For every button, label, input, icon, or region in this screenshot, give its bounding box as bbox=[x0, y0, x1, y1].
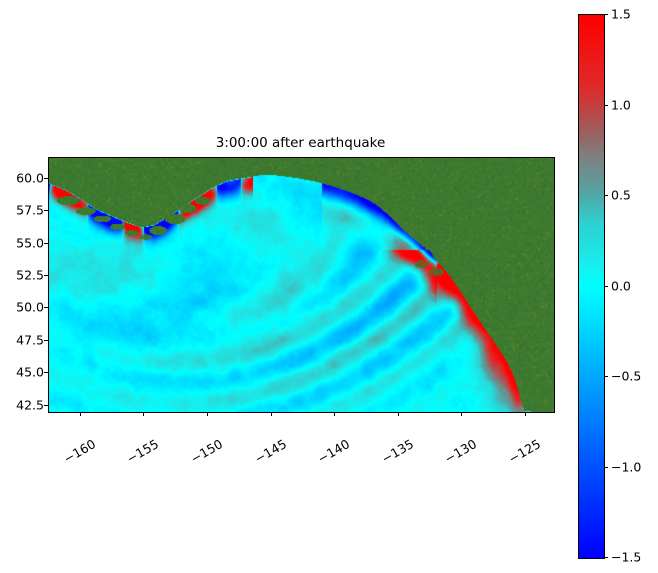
colorbar-tick-mark bbox=[604, 467, 608, 468]
y-tick-label: 60.0 bbox=[16, 170, 44, 185]
y-tick-mark bbox=[44, 405, 48, 406]
page-title: 3:00:00 after earthquake bbox=[48, 135, 553, 151]
y-tick-label: 52.5 bbox=[16, 267, 44, 282]
x-tick-label-text: −130 bbox=[442, 436, 479, 466]
x-tick-label: −130 bbox=[472, 419, 509, 449]
y-tick-label: 47.5 bbox=[16, 332, 44, 347]
x-tick-label: −150 bbox=[218, 419, 255, 449]
x-tick-label: −135 bbox=[408, 419, 445, 449]
x-tick-label-text: −150 bbox=[188, 436, 225, 466]
x-tick-label: −145 bbox=[281, 419, 318, 449]
x-tick-label: −125 bbox=[536, 419, 573, 449]
y-tick-mark bbox=[44, 372, 48, 373]
colorbar-tick-mark bbox=[604, 557, 608, 558]
y-tick-label: 42.5 bbox=[16, 397, 44, 412]
y-tick-label: 50.0 bbox=[16, 300, 44, 315]
x-tick-label-text: −140 bbox=[315, 436, 352, 466]
matplotlib-figure: 3:00:00 after earthquake 60.057.555.052.… bbox=[0, 0, 658, 573]
colorbar-tick-mark bbox=[604, 376, 608, 377]
x-tick-label-text: −125 bbox=[506, 436, 543, 466]
x-tick-label-text: −160 bbox=[61, 436, 98, 466]
x-tick-mark bbox=[143, 412, 144, 416]
y-tick-mark bbox=[44, 340, 48, 341]
y-tick-mark bbox=[44, 178, 48, 179]
x-tick-mark bbox=[80, 412, 81, 416]
x-tick-mark bbox=[334, 412, 335, 416]
y-tick-label: 57.5 bbox=[16, 203, 44, 218]
y-tick-label: 55.0 bbox=[16, 235, 44, 250]
x-tick-mark bbox=[461, 412, 462, 416]
x-tick-label: −155 bbox=[154, 419, 191, 449]
colorbar-tick-mark bbox=[604, 195, 608, 196]
colorbar-tick-label: 0.5 bbox=[611, 188, 631, 203]
x-tick-label-text: −135 bbox=[379, 436, 416, 466]
colorbar-tick-label: −1.0 bbox=[611, 459, 641, 474]
map-axes[interactable] bbox=[48, 157, 555, 413]
x-tick-mark bbox=[525, 412, 526, 416]
y-tick-mark bbox=[44, 210, 48, 211]
colorbar-gradient bbox=[579, 15, 604, 558]
x-tick-label-text: −155 bbox=[124, 436, 161, 466]
colorbar-tick-label: −0.5 bbox=[611, 369, 641, 384]
colorbar-tick-mark bbox=[604, 14, 608, 15]
x-tick-mark bbox=[398, 412, 399, 416]
y-tick-mark bbox=[44, 243, 48, 244]
x-tick-label: −140 bbox=[345, 419, 382, 449]
y-tick-mark bbox=[44, 307, 48, 308]
colorbar-tick-mark bbox=[604, 286, 608, 287]
x-tick-mark bbox=[271, 412, 272, 416]
y-tick-mark bbox=[44, 275, 48, 276]
x-tick-label: −160 bbox=[90, 419, 127, 449]
colorbar-tick-label: −1.5 bbox=[611, 550, 641, 565]
x-tick-label-text: −145 bbox=[251, 436, 288, 466]
colorbar-tick-mark bbox=[604, 105, 608, 106]
colorbar-tick-label: 1.0 bbox=[611, 97, 631, 112]
x-tick-mark bbox=[207, 412, 208, 416]
colorbar-tick-label: 1.5 bbox=[611, 7, 631, 22]
colorbar-tick-label: 0.0 bbox=[611, 278, 631, 293]
y-tick-label: 45.0 bbox=[16, 365, 44, 380]
colorbar[interactable] bbox=[578, 14, 605, 559]
sea-surface-height-heatmap bbox=[49, 158, 554, 412]
